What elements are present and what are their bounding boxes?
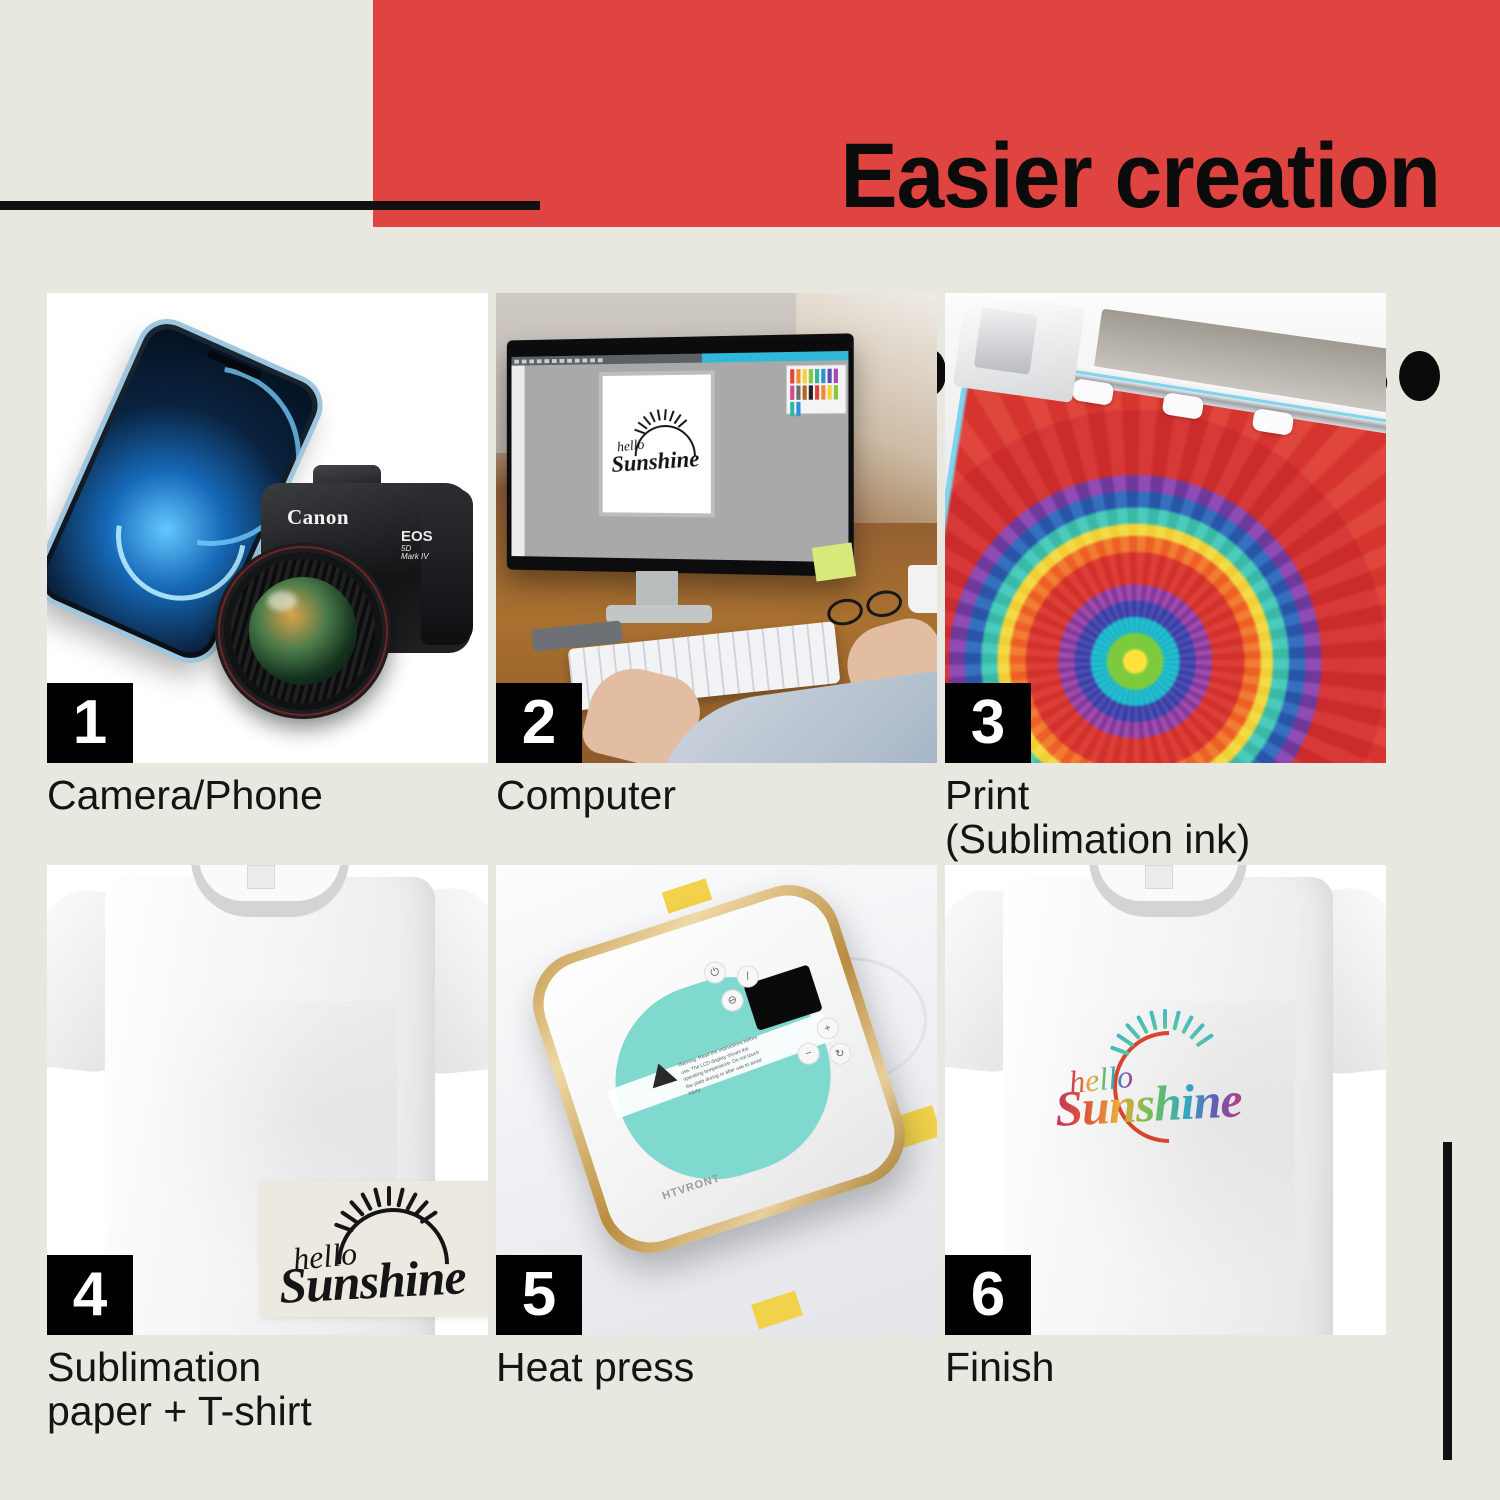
tshirt-neck-tag [247, 865, 275, 889]
monitor-stand [636, 571, 678, 607]
step-4-image: hello Sunshine 4 [47, 865, 488, 1335]
step-5-caption: Heat press [496, 1345, 937, 1389]
dslr-camera-icon: Canon EOS 5D Mark IV [195, 465, 471, 727]
sun-logo-icon: hello Sunshine [609, 409, 703, 479]
step-card-5[interactable]: Warning: Read the instructions before us… [496, 865, 937, 1389]
sublimation-paper: hello Sunshine [260, 1181, 488, 1317]
camera-model-label: EOS 5D Mark IV [401, 529, 433, 562]
steps-row-bottom: hello Sunshine 4 Sublimation paper + T-s… [47, 865, 1387, 1437]
step-2-caption: Computer [496, 773, 937, 817]
camera-model-mark: Mark IV [401, 553, 433, 561]
sun-logo-icon: hello Sunshine [273, 1190, 483, 1308]
camera-brand-label: Canon [287, 505, 349, 530]
step-card-1[interactable]: Canon EOS 5D Mark IV 1 Camera/Phone [47, 293, 488, 817]
software-tool-palette [511, 365, 524, 556]
reset-button[interactable]: ↻ [826, 1040, 854, 1068]
camera-lens [215, 543, 391, 719]
step-number-badge: 3 [945, 683, 1031, 763]
step-number-badge: 1 [47, 683, 133, 763]
step-6-image: hello Sunshine 6 [945, 865, 1386, 1335]
step-5-image: Warning: Read the instructions before us… [496, 865, 937, 1335]
camera-grip [421, 489, 473, 645]
monitor: hello Sunshine [507, 333, 854, 576]
step-number-badge: 4 [47, 1255, 133, 1335]
step-number-badge: 6 [945, 1255, 1031, 1335]
printer-carriage [953, 293, 1085, 403]
title-dot-icon [1399, 351, 1440, 401]
sun-logo-icon: hello Sunshine [1049, 1013, 1259, 1131]
step-3-image: 3 [945, 293, 1386, 763]
step-1-image: Canon EOS 5D Mark IV 1 [47, 293, 488, 763]
step-card-2[interactable]: hello Sunshine 2 Computer [496, 293, 937, 817]
camera-model-eos: EOS [401, 528, 433, 545]
tshirt-neck-tag [1145, 865, 1173, 889]
design-text-sunshine: Sunshine [278, 1247, 467, 1315]
title-line-1: Easier creation [101, 130, 1440, 222]
step-card-4[interactable]: hello Sunshine 4 Sublimation paper + T-s… [47, 865, 488, 1434]
footer-vertical-rule [1443, 1142, 1452, 1460]
monitor-base [606, 605, 712, 623]
lens-glass-element [249, 577, 357, 685]
coffee-mug [908, 565, 937, 613]
step-card-3[interactable]: 3 Print (Sublimation ink) [945, 293, 1386, 862]
step-2-image: hello Sunshine 2 [496, 293, 937, 763]
steps-grid: Canon EOS 5D Mark IV 1 Camera/Phone [47, 293, 1387, 1437]
step-number-badge: 5 [496, 1255, 582, 1335]
step-1-caption: Camera/Phone [47, 773, 488, 817]
step-3-caption: Print (Sublimation ink) [945, 773, 1386, 862]
lens-glint [267, 591, 297, 611]
design-document-page: hello Sunshine [599, 370, 715, 517]
software-canvas: hello Sunshine [511, 360, 848, 562]
step-card-6[interactable]: hello Sunshine 6 Finish [945, 865, 1386, 1389]
step-6-caption: Finish [945, 1345, 1386, 1389]
steps-row-top: Canon EOS 5D Mark IV 1 Camera/Phone [47, 293, 1387, 865]
eyeglasses-icon [824, 585, 903, 624]
sticky-note [812, 542, 856, 581]
design-text-sunshine: Sunshine [1054, 1070, 1243, 1138]
header-banner: Easier creation of templates [0, 0, 1500, 293]
step-4-caption: Sublimation paper + T-shirt [47, 1345, 488, 1434]
step-number-badge: 2 [496, 683, 582, 763]
color-swatch-panel [786, 364, 846, 414]
